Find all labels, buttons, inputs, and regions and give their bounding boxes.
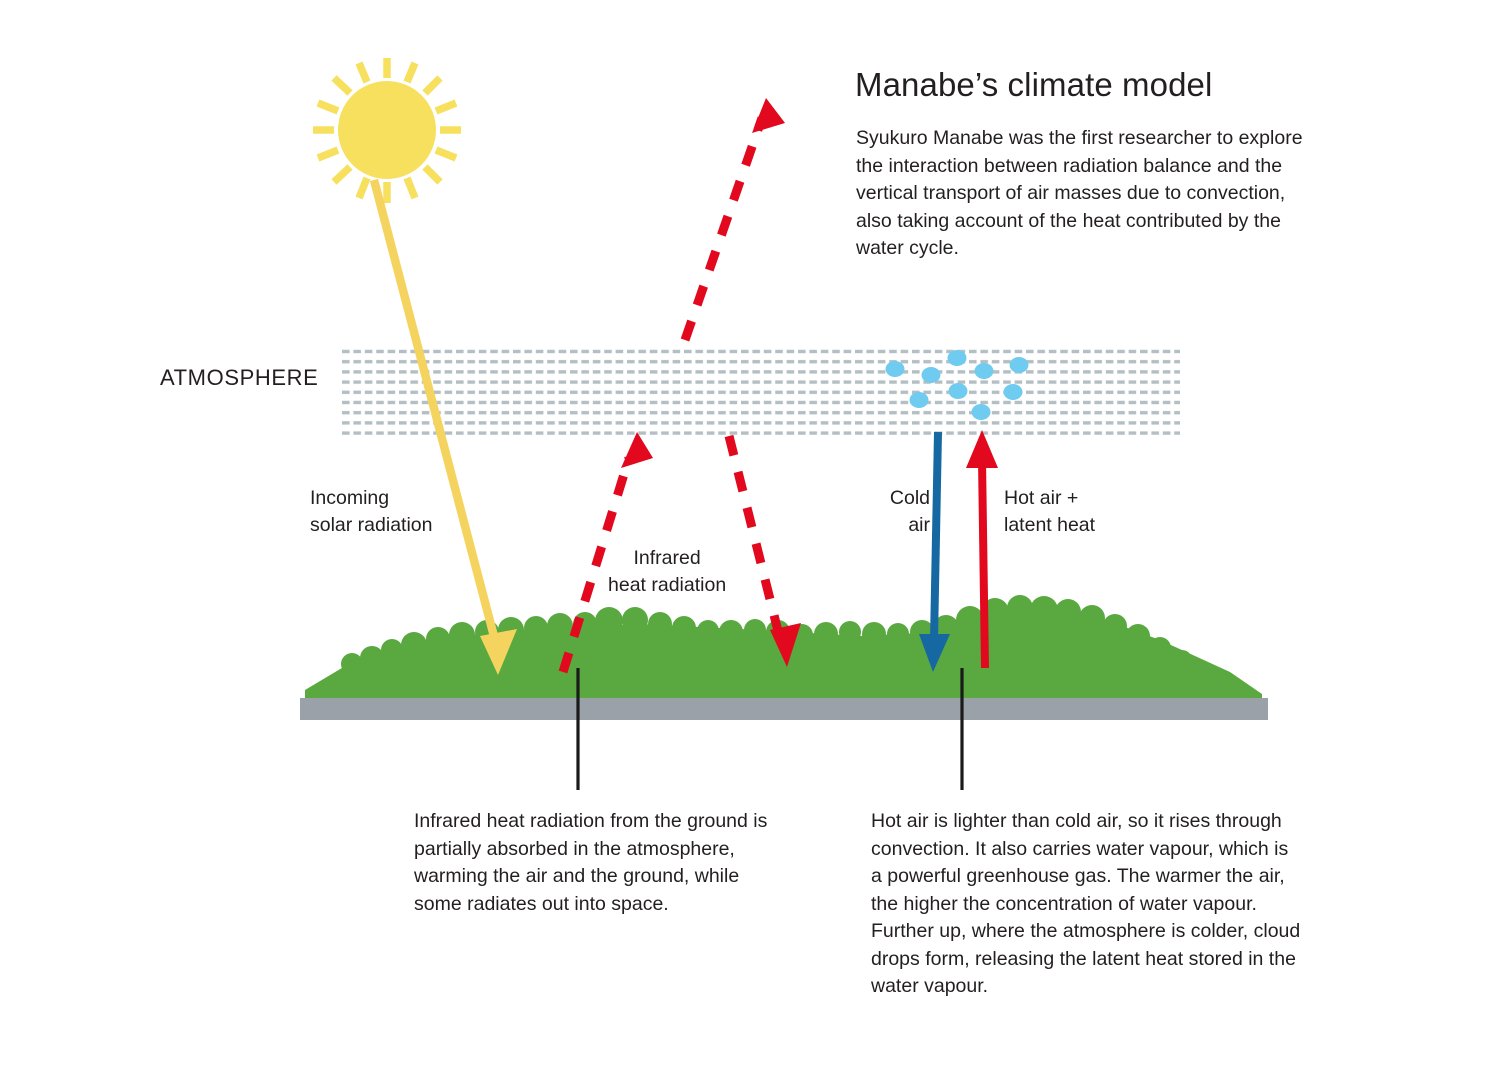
label-infrared-heat-radiation: Infrared heat radiation: [608, 545, 726, 599]
page-title: Manabe’s climate model: [855, 66, 1212, 104]
atmosphere-label: ATMOSPHERE: [160, 365, 318, 391]
sun-icon: [313, 58, 461, 203]
label-hot-air-latent-heat: Hot air + latent heat: [1004, 485, 1095, 539]
panel-description: Syukuro Manabe was the first researcher …: [856, 125, 1326, 263]
label-cold-air: Cold air: [820, 485, 930, 539]
atmosphere-dotted-band-icon: [340, 345, 1180, 435]
cold-air-down-arrow-icon: [919, 432, 950, 672]
diagram-canvas: Manabe’s climate model Syukuro Manabe wa…: [0, 0, 1494, 1075]
label-incoming-solar-radiation: Incoming solar radiation: [310, 485, 432, 539]
caption-convection: Hot air is lighter than cold air, so it …: [871, 808, 1301, 1001]
caption-infrared-absorption: Infrared heat radiation from the ground …: [414, 808, 786, 918]
outgoing-infrared-arrow-icon: [685, 98, 785, 340]
